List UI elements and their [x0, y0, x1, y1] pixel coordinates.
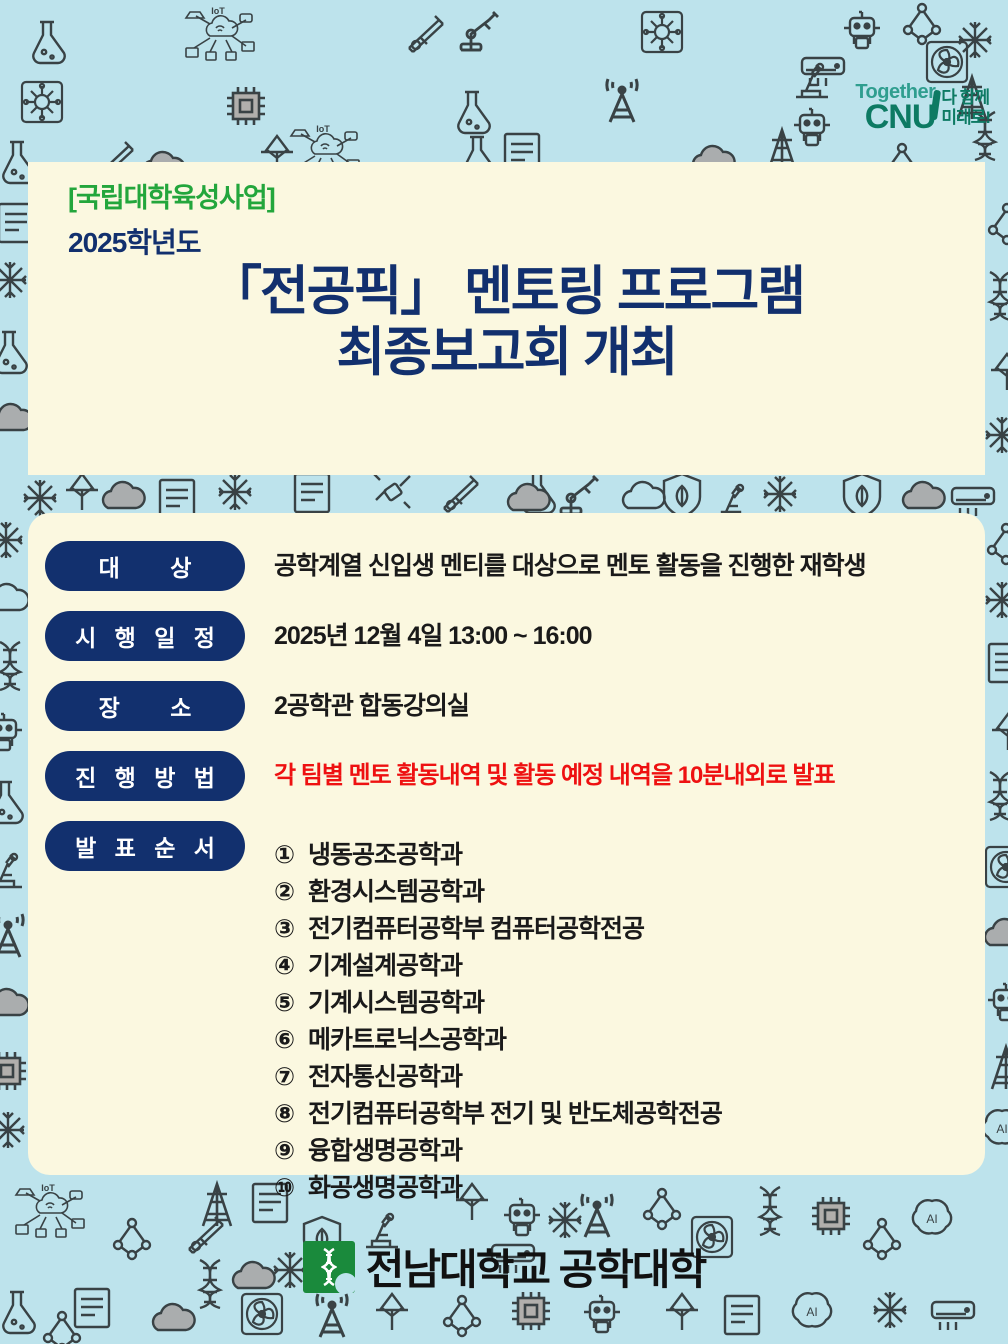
- list-item-number: ③: [274, 911, 308, 948]
- list-item-number: ①: [274, 837, 308, 874]
- list-item: ⑤기계시스템공학과: [274, 985, 722, 1022]
- label-place: 장 소: [45, 681, 245, 731]
- cnu-slogan-line-1: 다 함께: [941, 88, 990, 108]
- university-logo-icon: [303, 1241, 355, 1293]
- cnu-slogan: 다 함께 미래로!: [941, 88, 990, 127]
- list-item-label: 기계설계공학과: [308, 952, 462, 980]
- list-item: ⑧전기컴퓨터공학부 전기 및 반도체공학전공: [274, 1096, 722, 1133]
- detail-row-order: 발 표 순 서 ①냉동공조공학과②환경시스템공학과③전기컴퓨터공학부 컴퓨터공학…: [45, 821, 985, 1223]
- presentation-order-list: ①냉동공조공학과②환경시스템공학과③전기컴퓨터공학부 컴퓨터공학전공④기계설계공…: [274, 837, 722, 1207]
- label-schedule: 시 행 일 정: [45, 611, 245, 661]
- list-item-number: ⑦: [274, 1059, 308, 1096]
- cnu-acronym-text: CNU: [865, 100, 936, 134]
- together-cnu-logo: Together CNU 다 함께 미래로!: [855, 82, 990, 134]
- list-item: ⑩화공생명공학과: [274, 1170, 722, 1207]
- program-kicker: [국립대학육성사업]: [68, 184, 985, 214]
- list-item: ②환경시스템공학과: [274, 874, 722, 911]
- label-method: 진 행 방 법: [45, 751, 245, 801]
- list-item-label: 융합생명공학과: [308, 1137, 462, 1165]
- list-item-number: ⑩: [274, 1170, 308, 1207]
- cnu-logo-wordmark: Together CNU: [855, 82, 935, 134]
- list-item: ⑥메카트로닉스공학과: [274, 1022, 722, 1059]
- page-subtitle: 최종보고회 개최: [28, 323, 985, 383]
- details-rows: 대 상 공학계열 신입생 멘티를 대상으로 멘토 활동을 진행한 재학생 시 행…: [28, 513, 985, 1223]
- page-title: 「전공픽」 멘토링 프로그램: [28, 262, 985, 322]
- list-item-label: 메카트로닉스공학과: [308, 1026, 506, 1054]
- cnu-slogan-line-2: 미래로!: [941, 108, 990, 128]
- value-schedule: 2025년 12월 4일 13:00 ~ 16:00: [274, 611, 592, 661]
- label-presentation-order: 발 표 순 서: [45, 821, 245, 871]
- detail-row-target: 대 상 공학계열 신입생 멘티를 대상으로 멘토 활동을 진행한 재학생: [45, 541, 985, 591]
- list-item-label: 전기컴퓨터공학부 컴퓨터공학전공: [308, 915, 644, 943]
- list-item-number: ②: [274, 874, 308, 911]
- footer-organization-name: 전남대학교 공학대학: [366, 1236, 705, 1297]
- detail-row-method: 진 행 방 법 각 팀별 멘토 활동내역 및 활동 예정 내역을 10분내외로 …: [45, 751, 985, 801]
- list-item-label: 환경시스템공학과: [308, 878, 484, 906]
- label-target: 대 상: [45, 541, 245, 591]
- detail-row-schedule: 시 행 일 정 2025년 12월 4일 13:00 ~ 16:00: [45, 611, 985, 661]
- list-item: ③전기컴퓨터공학부 컴퓨터공학전공: [274, 911, 722, 948]
- list-item: ⑦전자통신공학과: [274, 1059, 722, 1096]
- list-item-number: ⑨: [274, 1133, 308, 1170]
- academic-year: 2025학년도: [68, 228, 985, 259]
- logo-notch: [335, 1273, 355, 1293]
- list-item-number: ⑥: [274, 1022, 308, 1059]
- list-item-label: 냉동공조공학과: [308, 841, 462, 869]
- details-card: 대 상 공학계열 신입생 멘티를 대상으로 멘토 활동을 진행한 재학생 시 행…: [28, 513, 985, 1175]
- list-item: ④기계설계공학과: [274, 948, 722, 985]
- list-item-label: 전자통신공학과: [308, 1063, 462, 1091]
- list-item-number: ⑧: [274, 1096, 308, 1133]
- list-item-number: ⑤: [274, 985, 308, 1022]
- value-target: 공학계열 신입생 멘티를 대상으로 멘토 활동을 진행한 재학생: [274, 541, 866, 591]
- value-place: 2공학관 합동강의실: [274, 681, 469, 731]
- detail-row-place: 장 소 2공학관 합동강의실: [45, 681, 985, 731]
- list-item-number: ④: [274, 948, 308, 985]
- list-item-label: 화공생명공학과: [308, 1174, 462, 1202]
- title-card: [국립대학육성사업] 2025학년도 「전공픽」 멘토링 프로그램 최종보고회 …: [28, 162, 985, 475]
- value-method: 각 팀별 멘토 활동내역 및 활동 예정 내역을 10분내외로 발표: [274, 751, 835, 801]
- list-item-label: 기계시스템공학과: [308, 989, 484, 1017]
- list-item: ①냉동공조공학과: [274, 837, 722, 874]
- footer-logo-block: 전남대학교 공학대학: [0, 1236, 1008, 1297]
- list-item-label: 전기컴퓨터공학부 전기 및 반도체공학전공: [308, 1100, 722, 1128]
- list-item: ⑨융합생명공학과: [274, 1133, 722, 1170]
